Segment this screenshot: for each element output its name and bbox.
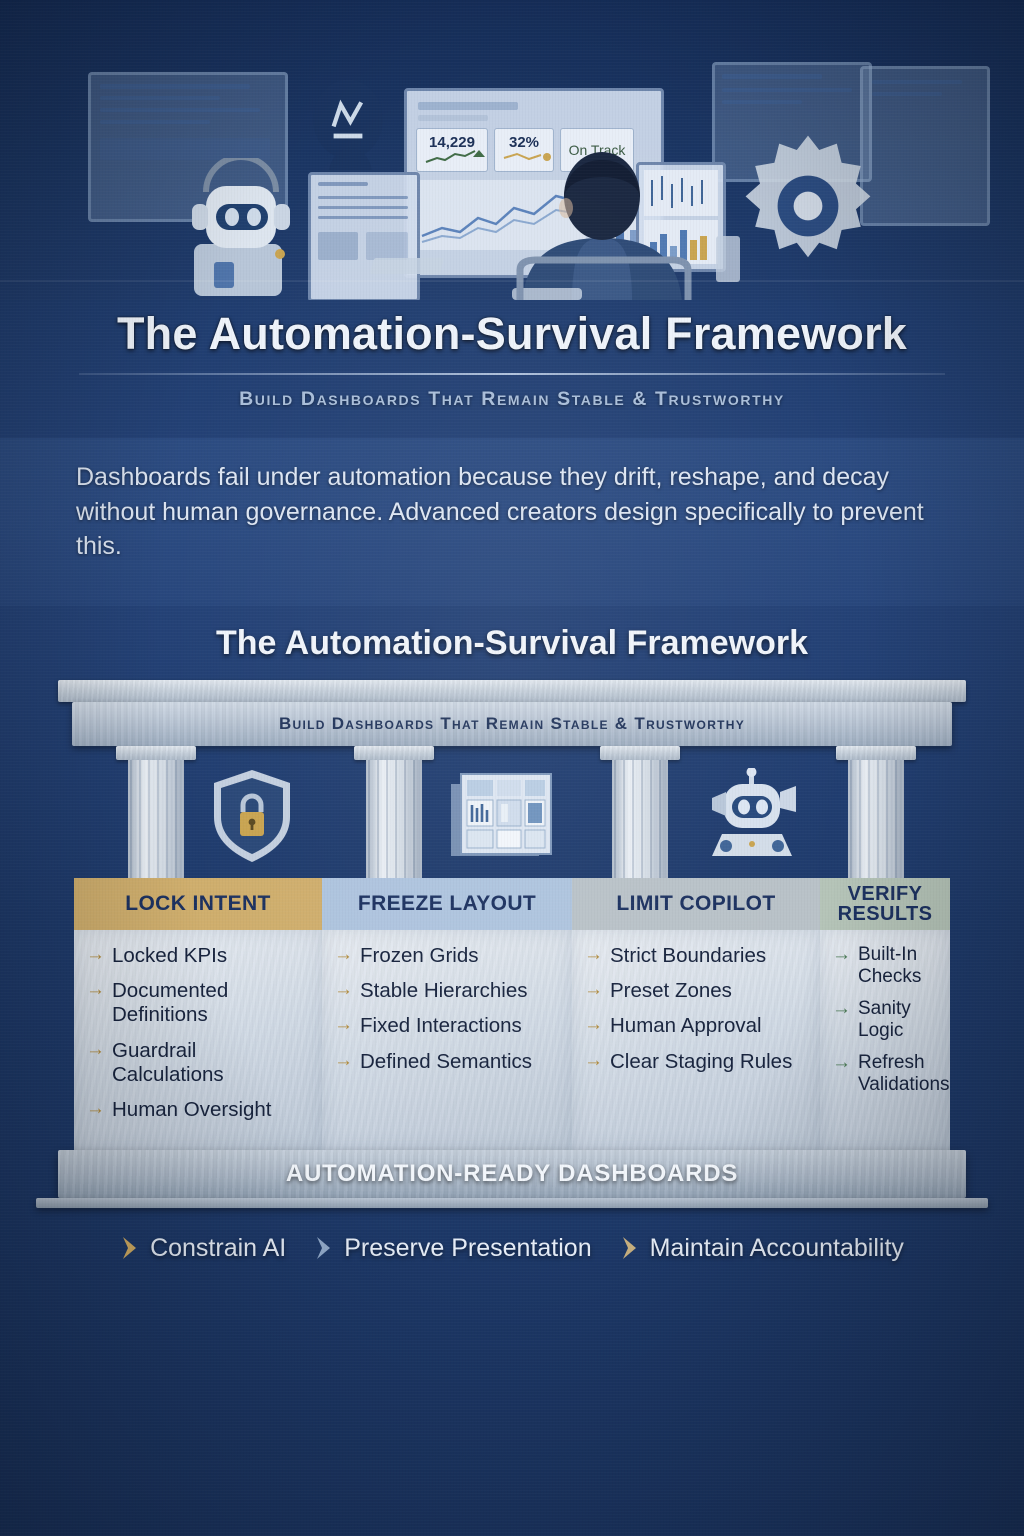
doc-line — [318, 206, 408, 209]
intro-paragraph: Dashboards fail under automation because… — [76, 460, 956, 564]
icon-slot-3 — [692, 760, 812, 872]
monitor-header-bar — [418, 102, 518, 110]
doc-line — [318, 196, 408, 199]
list-item: →Fixed Interactions — [334, 1014, 562, 1038]
pillar-3 — [608, 746, 672, 894]
footer-item-2: Preserve Presentation — [300, 1234, 605, 1263]
list-item-label: Refresh Validations — [858, 1052, 950, 1097]
list-item: →Locked KPIs — [86, 944, 312, 968]
list-item-label: Sanity Logic — [858, 998, 940, 1043]
arrow-icon: → — [832, 1052, 851, 1074]
list-item-label: Human Approval — [610, 1014, 762, 1038]
coffee-cup — [716, 236, 740, 282]
gear-icon — [728, 126, 888, 286]
temple-plinth — [36, 1198, 988, 1208]
column-body-2: →Frozen Grids →Stable Hierarchies →Fixed… — [322, 930, 572, 1150]
temple-cornice — [58, 680, 966, 702]
page-subtitle: Build Dashboards That Remain Stable & Tr… — [0, 388, 1024, 411]
list-item: →Guardrail Calculations — [86, 1039, 312, 1087]
arrow-icon: → — [334, 1050, 353, 1072]
pillar-capital — [600, 746, 680, 760]
temple-diagram: The Automation-Survival Framework Build … — [0, 612, 1024, 1272]
pillar-shaft — [128, 760, 184, 880]
column-limit-copilot: LIMIT COPILOT →Strict Boundaries →Preset… — [572, 878, 820, 1150]
list-item: →Human Oversight — [86, 1098, 312, 1122]
up-arrow-sparkline-icon — [425, 149, 485, 165]
arrow-icon: → — [86, 1039, 105, 1061]
column-body-1: →Locked KPIs →Documented Definitions →Gu… — [74, 930, 322, 1150]
wall-panel-line — [722, 74, 822, 79]
arrow-icon: → — [832, 998, 851, 1020]
pillar-shaft — [848, 760, 904, 880]
temple-title: The Automation-Survival Framework — [0, 624, 1024, 663]
temple-architrave: Build Dashboards That Remain Stable & Tr… — [72, 702, 952, 746]
page-title: The Automation-Survival Framework — [0, 296, 1024, 357]
list-item: →Clear Staging Rules — [584, 1050, 810, 1074]
list-item: →Human Approval — [584, 1014, 810, 1038]
list-item: →Frozen Grids — [334, 944, 562, 968]
pillar-capital — [836, 746, 916, 760]
pillar-2 — [362, 746, 426, 894]
robot-head-icon — [700, 768, 804, 864]
arrow-icon: → — [584, 979, 603, 1001]
infographic-page: 14,229 32% On Track — [0, 0, 1024, 1536]
layout-grid-icon — [449, 770, 555, 862]
chevron-right-icon — [120, 1235, 140, 1261]
arrow-icon: → — [584, 1050, 603, 1072]
list-item: →Refresh Validations — [832, 1052, 940, 1097]
temple-base-band: AUTOMATION-READY DASHBOARDS — [58, 1150, 966, 1198]
title-block: The Automation-Survival Framework Build … — [0, 296, 1024, 432]
temple-architrave-text: Build Dashboards That Remain Stable & Tr… — [279, 714, 745, 734]
pillar-capital — [354, 746, 434, 760]
arrow-icon: → — [584, 944, 603, 966]
arrow-icon: → — [334, 944, 353, 966]
arrow-icon: → — [832, 944, 851, 966]
column-lock-intent: LOCK INTENT →Locked KPIs →Documented Def… — [74, 878, 322, 1150]
list-item-label: Guardrail Calculations — [112, 1039, 312, 1087]
list-item-label: Human Oversight — [112, 1098, 272, 1122]
arrow-icon: → — [584, 1014, 603, 1036]
list-item-label: Fixed Interactions — [360, 1014, 522, 1038]
list-item: →Preset Zones — [584, 979, 810, 1003]
wall-panel-line — [100, 108, 260, 112]
wall-panel-line — [722, 100, 802, 104]
doc-line — [318, 182, 368, 186]
desk-edge — [0, 280, 1024, 282]
column-verify-results: VERIFY RESULTS →Built-In Checks →Sanity … — [820, 878, 950, 1150]
doc-line — [318, 216, 408, 219]
list-item-label: Locked KPIs — [112, 944, 227, 968]
column-header-2: FREEZE LAYOUT — [322, 878, 572, 930]
footer-item-label: Preserve Presentation — [344, 1234, 591, 1263]
column-header-3: LIMIT COPILOT — [572, 878, 820, 930]
pillar-shaft — [366, 760, 422, 880]
wall-panel-line — [100, 120, 210, 124]
footer-item-label: Constrain AI — [150, 1234, 286, 1263]
arrow-icon: → — [86, 944, 105, 966]
list-item-label: Stable Hierarchies — [360, 979, 528, 1003]
doc-table — [318, 232, 358, 260]
column-header-4: VERIFY RESULTS — [820, 878, 950, 930]
list-item: →Built-In Checks — [832, 944, 940, 989]
list-item-label: Documented Definitions — [112, 979, 312, 1027]
column-body-4: →Built-In Checks →Sanity Logic →Refresh … — [820, 930, 950, 1150]
chair — [480, 244, 730, 300]
arrow-icon: → — [86, 1098, 105, 1120]
shield-lock-icon — [209, 767, 295, 865]
arrow-icon: → — [334, 979, 353, 1001]
list-item: →Strict Boundaries — [584, 944, 810, 968]
pillar-1 — [124, 746, 188, 894]
badge-icon — [312, 78, 384, 170]
wall-panel-line — [100, 96, 220, 100]
intro-band: Dashboards fail under automation because… — [0, 438, 1024, 606]
kpi-card: 14,229 — [416, 128, 488, 172]
column-body-3: →Strict Boundaries →Preset Zones →Human … — [572, 930, 820, 1150]
robot-assistant-icon — [176, 158, 306, 298]
list-item-label: Clear Staging Rules — [610, 1050, 792, 1074]
title-divider — [79, 373, 945, 375]
list-item-label: Preset Zones — [610, 979, 732, 1003]
temple-base-label: AUTOMATION-READY DASHBOARDS — [286, 1160, 738, 1188]
hero-illustration: 14,229 32% On Track — [0, 0, 1024, 300]
pillar-shaft — [612, 760, 668, 880]
icon-slot-1 — [192, 760, 312, 872]
list-item-label: Frozen Grids — [360, 944, 478, 968]
arrow-icon: → — [86, 979, 105, 1001]
chevron-right-icon — [314, 1235, 334, 1261]
list-item: →Documented Definitions — [86, 979, 312, 1027]
chevron-right-icon — [620, 1235, 640, 1261]
pillar-4 — [844, 746, 908, 894]
footer-takeaways: Constrain AI Preserve Presentation Maint… — [0, 1216, 1024, 1280]
list-item: →Defined Semantics — [334, 1050, 562, 1074]
monitor-header-bar — [418, 115, 488, 121]
wall-panel-line — [100, 84, 250, 89]
footer-item-3: Maintain Accountability — [606, 1234, 918, 1263]
wall-panel-line — [872, 80, 962, 84]
column-header-1: LOCK INTENT — [74, 878, 322, 930]
keyboard — [370, 258, 445, 274]
list-item-label: Strict Boundaries — [610, 944, 766, 968]
doc-table — [366, 232, 408, 260]
footer-item-1: Constrain AI — [106, 1234, 300, 1263]
wall-panel-line — [722, 88, 852, 92]
arrow-icon: → — [334, 1014, 353, 1036]
list-item-label: Built-In Checks — [858, 944, 940, 989]
pillar-capital — [116, 746, 196, 760]
list-item: →Sanity Logic — [832, 998, 940, 1043]
icon-slot-2 — [442, 760, 562, 872]
list-item-label: Defined Semantics — [360, 1050, 532, 1074]
wall-panel-line — [872, 92, 942, 96]
wall-panel-chart — [100, 138, 270, 160]
list-item: →Stable Hierarchies — [334, 979, 562, 1003]
column-freeze-layout: FREEZE LAYOUT →Frozen Grids →Stable Hier… — [322, 878, 572, 1150]
footer-item-label: Maintain Accountability — [650, 1234, 904, 1263]
